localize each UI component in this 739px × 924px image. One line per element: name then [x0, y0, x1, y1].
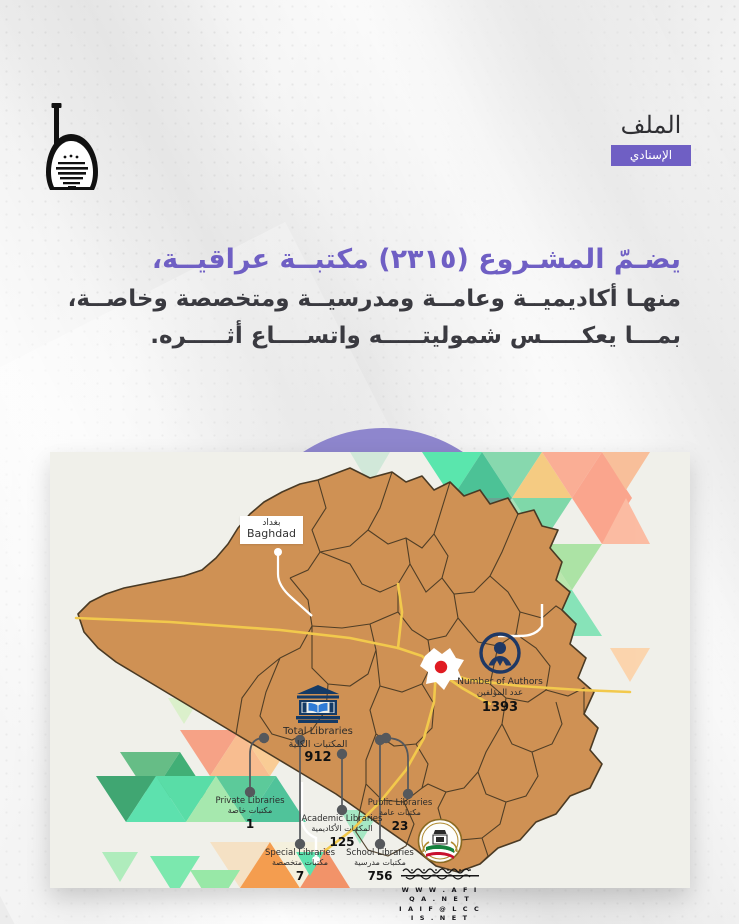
- file-label-group: الملف الإسنادي: [611, 112, 691, 166]
- library-building-icon: [295, 684, 341, 724]
- total-libraries-group: Total Libraries المكتبات الكلية 912: [266, 684, 370, 767]
- seal-calligraphy: [398, 866, 482, 886]
- seal-url-primary: W W W . A F I Q A . N E T: [398, 886, 482, 905]
- seal-url-secondary: I A I F @ L C C I S . N E T: [398, 905, 482, 924]
- headline-line-1: يضـمّ المشـروع (٢٣١٥) مكتبــة عراقيــة،: [51, 240, 681, 281]
- stat-private-libraries: Private Libraries مكتبات خاصة 1: [202, 796, 298, 831]
- headline-line-3: بمـــا يعكـــــس شموليتـــــه واتســــاع…: [51, 318, 681, 355]
- stat-label-en: Private Libraries: [202, 796, 298, 806]
- headline-line-2: منهـا أكاديميــة وعامــة ومدرسيــة ومتخص…: [51, 281, 681, 318]
- headline-block: يضـمّ المشـروع (٢٣١٥) مكتبــة عراقيــة، …: [51, 240, 681, 355]
- total-libraries-label-ar: المكتبات الكلية: [266, 739, 370, 751]
- page-title: الملف: [611, 112, 691, 138]
- stat-value: 1: [202, 817, 298, 831]
- iraqi-authors-union-seal: W W W . A F I Q A . N E T I A I F @ L C …: [398, 818, 482, 924]
- total-libraries-value: 912: [266, 750, 370, 767]
- stat-label-ar: مكتبات عامة: [352, 808, 448, 818]
- stat-value: 125: [294, 835, 390, 849]
- seal-emblem-icon: [417, 818, 463, 864]
- stat-label-en: Public Libraries: [352, 798, 448, 808]
- cultural-library-dome-logo-icon: [38, 100, 104, 192]
- stat-label-ar: مكتبات خاصة: [202, 806, 298, 816]
- total-libraries-label-en: Total Libraries: [266, 726, 370, 739]
- status-badge: الإسنادي: [611, 145, 691, 166]
